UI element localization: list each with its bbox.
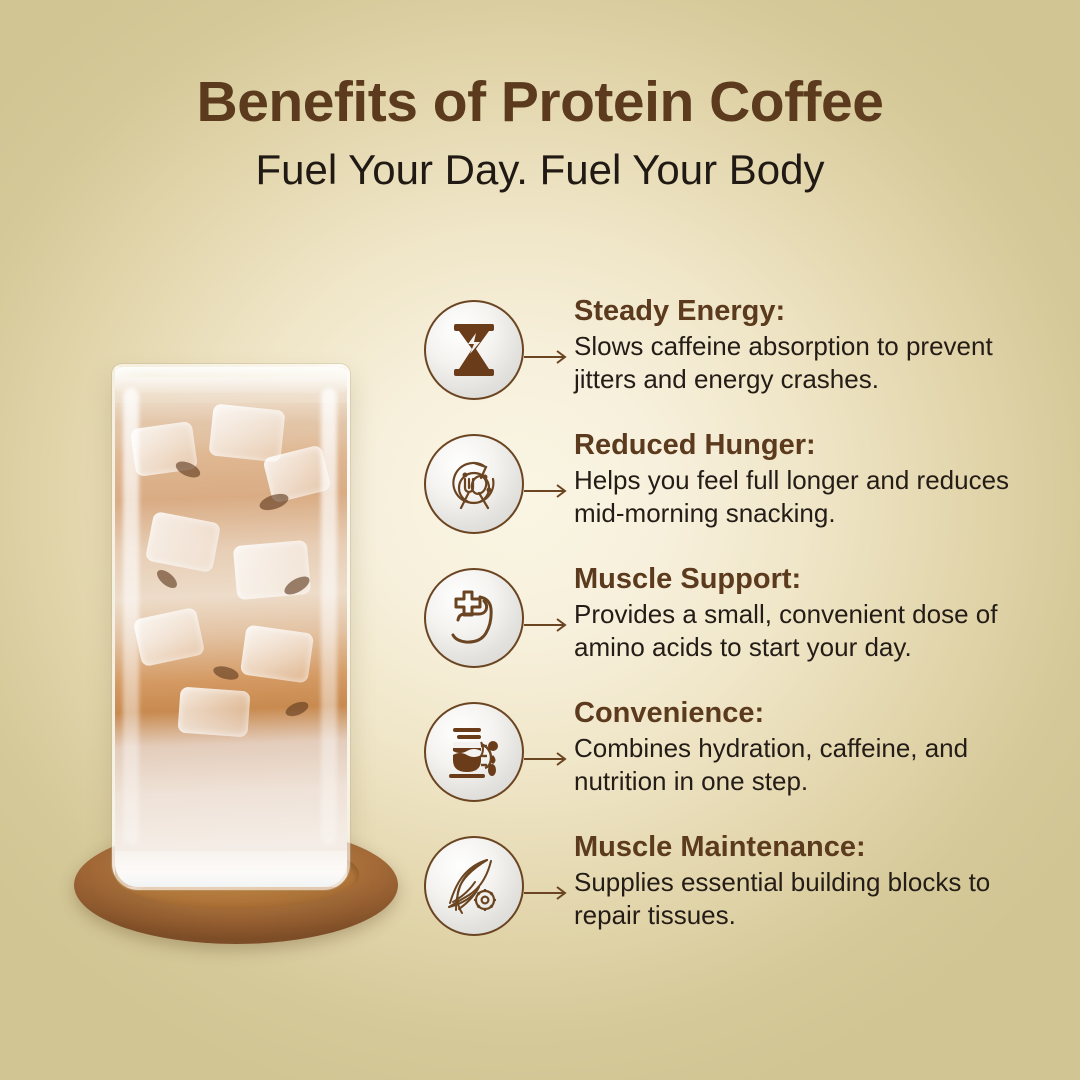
benefit-title: Reduced Hunger: <box>574 430 1052 460</box>
benefit-icon-wrap <box>424 434 524 534</box>
benefit-icon-wrap <box>424 702 524 802</box>
product-photo <box>48 330 398 950</box>
benefit-text: Muscle Maintenance: Supplies essential b… <box>524 832 1052 932</box>
benefits-list: Steady Energy: Slows caffeine absorption… <box>424 296 1052 966</box>
page-subtitle: Fuel Your Day. Fuel Your Body <box>0 149 1080 191</box>
benefit-icon-wrap <box>424 568 524 668</box>
plate-fork-spoon-reduce-icon <box>424 434 524 534</box>
coffee-mug-press-icon <box>424 702 524 802</box>
benefit-item[interactable]: Muscle Maintenance: Supplies essential b… <box>424 832 1052 966</box>
muscle-fiber-gear-icon <box>424 836 524 936</box>
benefit-description: Slows caffeine absorption to prevent jit… <box>574 330 1052 396</box>
glass-highlight-left <box>123 388 139 846</box>
infographic-poster: Benefits of Protein Coffee Fuel Your Day… <box>0 0 1080 1080</box>
glass-highlight-right <box>321 388 337 846</box>
benefit-title: Muscle Maintenance: <box>574 832 1052 862</box>
benefit-description: Helps you feel full longer and reduces m… <box>574 464 1052 530</box>
page-title: Benefits of Protein Coffee <box>0 74 1080 131</box>
benefit-text: Reduced Hunger: Helps you feel full long… <box>524 430 1052 530</box>
benefit-text: Steady Energy: Slows caffeine absorption… <box>524 296 1052 396</box>
benefit-title: Convenience: <box>574 698 1052 728</box>
benefit-item[interactable]: Muscle Support: Provides a small, conven… <box>424 564 1052 698</box>
benefit-description: Combines hydration, caffeine, and nutrit… <box>574 732 1052 798</box>
benefit-item[interactable]: Reduced Hunger: Helps you feel full long… <box>424 430 1052 564</box>
hourglass-lightning-icon <box>424 300 524 400</box>
benefit-text: Convenience: Combines hydration, caffein… <box>524 698 1052 798</box>
benefit-item[interactable]: Steady Energy: Slows caffeine absorption… <box>424 296 1052 430</box>
flexed-bicep-plus-icon <box>424 568 524 668</box>
benefit-description: Supplies essential building blocks to re… <box>574 866 1052 932</box>
header-block: Benefits of Protein Coffee Fuel Your Day… <box>0 74 1080 191</box>
benefit-title: Muscle Support: <box>574 564 1052 594</box>
ice-cube <box>177 687 250 738</box>
benefit-description: Provides a small, convenient dose of ami… <box>574 598 1052 664</box>
ice-cube <box>208 403 285 462</box>
benefit-text: Muscle Support: Provides a small, conven… <box>524 564 1052 664</box>
glass-base <box>115 851 347 887</box>
glass-rim <box>112 367 350 393</box>
iced-coffee-glass <box>112 364 350 890</box>
ice-cube <box>240 625 314 684</box>
benefit-icon-wrap <box>424 836 524 936</box>
benefit-item[interactable]: Convenience: Combines hydration, caffein… <box>424 698 1052 832</box>
benefit-icon-wrap <box>424 300 524 400</box>
benefit-title: Steady Energy: <box>574 296 1052 326</box>
